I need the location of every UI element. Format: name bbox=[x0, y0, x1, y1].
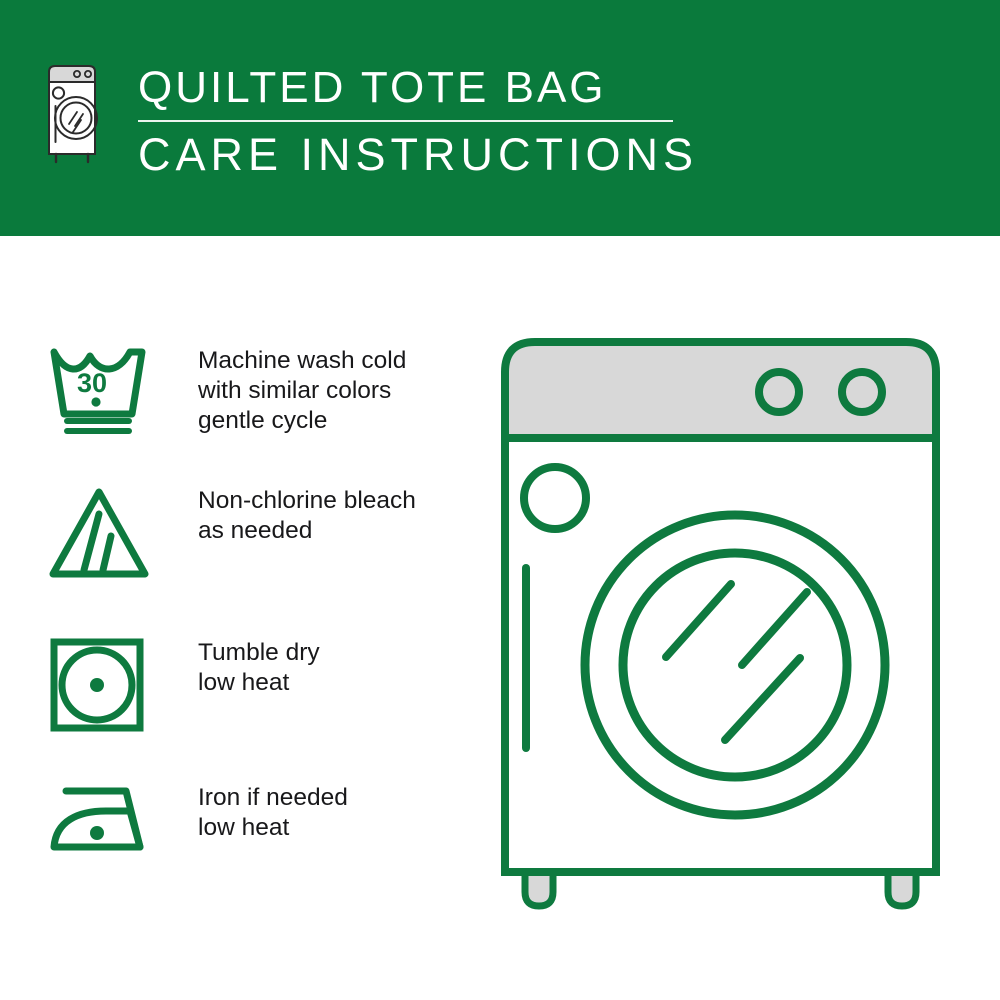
gentle-bar-1 bbox=[64, 418, 132, 424]
iron-symbol bbox=[48, 781, 158, 861]
header-content: QUILTED TOTE BAG CARE INSTRUCTIONS bbox=[44, 62, 698, 180]
care-item-bleach: Non-chlorine bleach as needed bbox=[48, 484, 416, 582]
tumble-dry-symbol bbox=[48, 636, 146, 734]
title-divider bbox=[138, 120, 673, 122]
machine-wash-symbol-wrapper: 30 bbox=[48, 344, 163, 436]
washing-machine-graphic bbox=[480, 320, 980, 945]
tumble-dry-symbol-wrapper bbox=[48, 636, 163, 734]
care-item-label: Tumble dry low heat bbox=[198, 636, 320, 698]
care-item-label: Iron if needed low heat bbox=[198, 781, 348, 843]
gentle-bar-2 bbox=[64, 428, 132, 434]
page-subtitle: CARE INSTRUCTIONS bbox=[136, 130, 698, 180]
machine-body bbox=[505, 438, 936, 872]
washing-machine-icon bbox=[44, 62, 108, 170]
wash-temperature-label: 30 bbox=[77, 368, 107, 398]
iron-heat-dot-icon bbox=[90, 826, 104, 840]
machine-control-panel bbox=[505, 342, 936, 438]
header-banner: QUILTED TOTE BAG CARE INSTRUCTIONS bbox=[0, 0, 1000, 236]
care-item-machine-wash: 30 Machine wash cold with similar colors… bbox=[48, 344, 406, 436]
non-chlorine-bleach-symbol bbox=[48, 484, 156, 582]
care-item-label: Non-chlorine bleach as needed bbox=[198, 484, 416, 546]
care-instruction-list: 30 Machine wash cold with similar colors… bbox=[0, 236, 470, 1000]
iron-symbol-wrapper bbox=[48, 781, 163, 861]
machine-wash-symbol: 30 bbox=[48, 344, 156, 436]
dry-heat-dot-icon bbox=[90, 678, 104, 692]
wash-dot-icon bbox=[91, 397, 100, 406]
care-item-tumble-dry: Tumble dry low heat bbox=[48, 636, 320, 734]
bleach-symbol-wrapper bbox=[48, 484, 163, 582]
washing-machine-illustration bbox=[480, 320, 980, 945]
care-item-iron: Iron if needed low heat bbox=[48, 781, 348, 861]
care-item-label: Machine wash cold with similar colors ge… bbox=[198, 344, 406, 436]
page-title: QUILTED TOTE BAG bbox=[136, 62, 698, 114]
header-title-block: QUILTED TOTE BAG CARE INSTRUCTIONS bbox=[136, 62, 698, 180]
care-instructions-page: QUILTED TOTE BAG CARE INSTRUCTIONS 30 bbox=[0, 0, 1000, 1000]
